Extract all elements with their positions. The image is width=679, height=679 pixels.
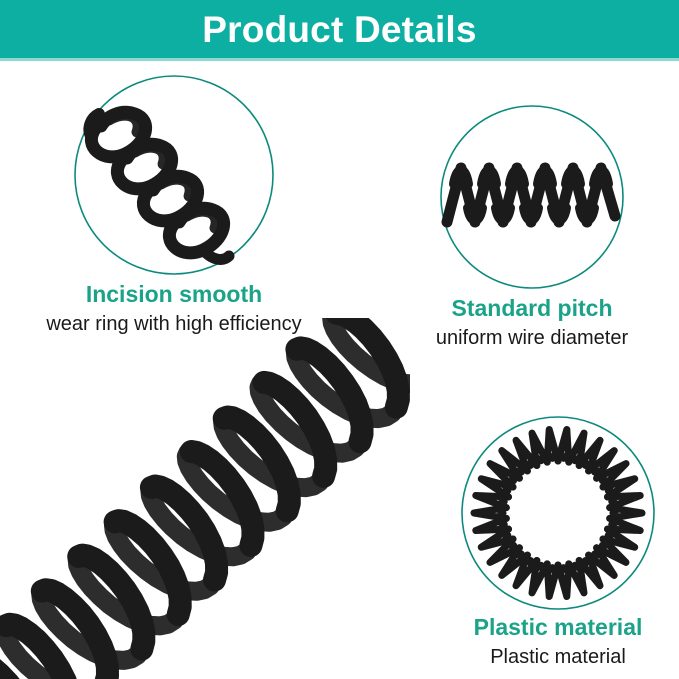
- feature-heading: Plastic material: [474, 615, 643, 641]
- ring-coil-loop-icon: [460, 415, 656, 611]
- product-details-page: Product Details: [0, 0, 679, 679]
- feature-plastic-material: Plastic material Plastic material: [449, 415, 667, 669]
- feature-heading: Standard pitch: [451, 296, 612, 322]
- feature-standard-pitch: Standard pitch uniform wire diameter: [398, 104, 666, 350]
- feature-subtitle: Plastic material: [490, 646, 626, 669]
- horizontal-coil-spring-icon: [439, 104, 625, 290]
- feature-incision-smooth: Incision smooth wear ring with high effi…: [14, 74, 334, 336]
- diagonal-coil-spiral-icon: [73, 74, 275, 276]
- large-diagonal-coil-binding-spiral-icon: [0, 318, 410, 679]
- feature-heading: Incision smooth: [86, 282, 262, 308]
- header-banner: Product Details: [0, 0, 679, 58]
- header-underline: [0, 58, 679, 61]
- page-title: Product Details: [202, 11, 476, 48]
- feature-subtitle: wear ring with high efficiency: [46, 313, 301, 336]
- feature-subtitle: uniform wire diameter: [436, 327, 628, 350]
